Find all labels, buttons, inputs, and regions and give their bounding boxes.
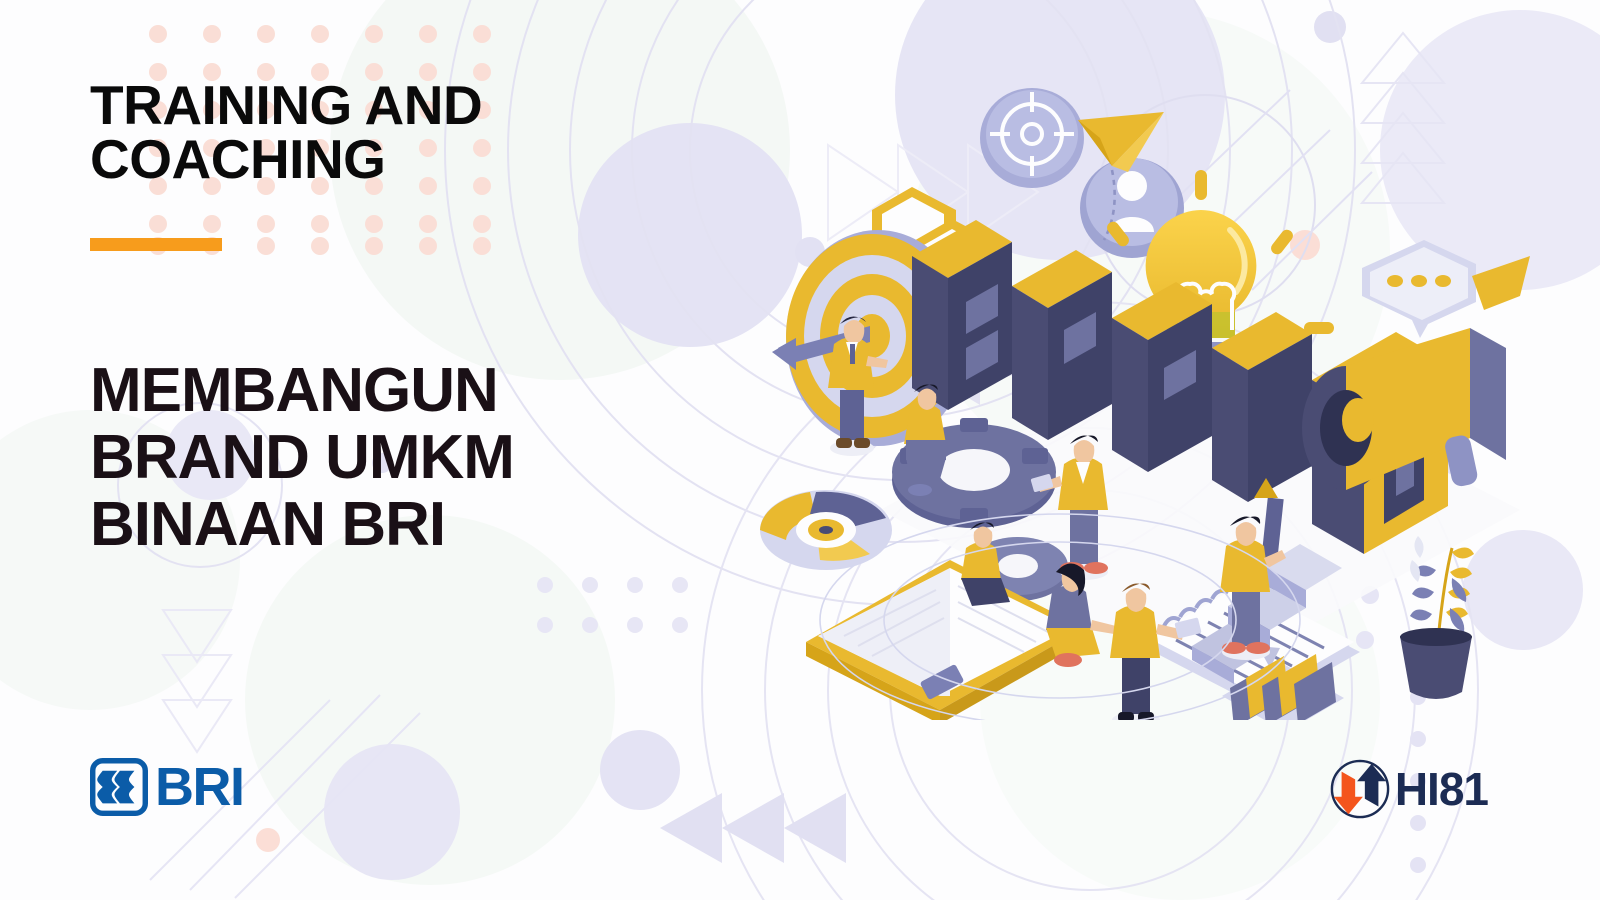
speech-bubble-icon	[1362, 240, 1476, 338]
hi81-wordmark: HI81	[1395, 766, 1488, 812]
lavender-circle	[600, 730, 680, 810]
accent-rule	[90, 238, 222, 251]
bri-logo: BRI	[90, 758, 244, 816]
donut-chart-icon	[760, 490, 892, 570]
hi81-logo: HI81	[1329, 758, 1488, 820]
brand-isometric-illustration	[760, 80, 1540, 720]
bri-wave-mark-icon	[90, 758, 148, 816]
crosshair-badge-icon	[980, 88, 1084, 188]
bri-wordmark: BRI	[155, 760, 244, 814]
slide-canvas: TRAINING AND COACHING MEMBANGUN BRAND UM…	[0, 0, 1600, 900]
hi81-arrows-circle-icon	[1329, 758, 1391, 820]
page-kicker: TRAINING AND COACHING	[90, 78, 482, 187]
lavender-circle	[324, 744, 460, 880]
page-title: MEMBANGUN BRAND UMKM BINAAN BRI	[90, 358, 690, 559]
pink-circle	[256, 828, 280, 852]
